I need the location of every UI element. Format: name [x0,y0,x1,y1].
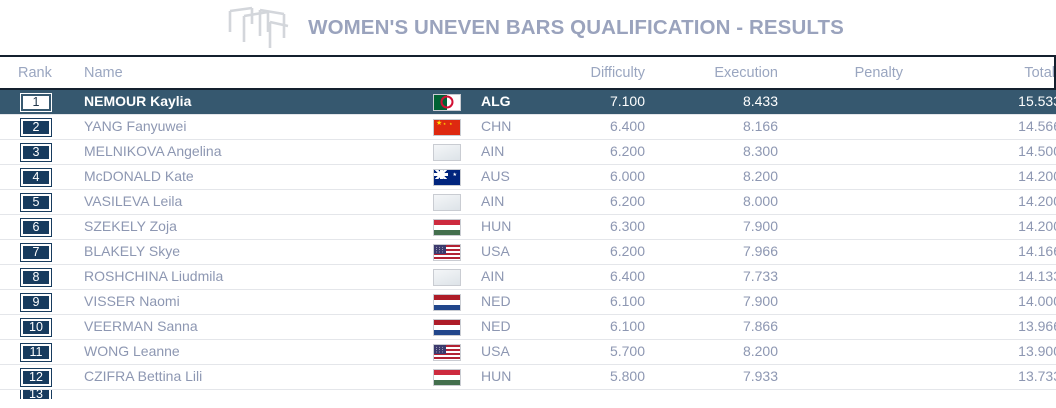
difficulty-cell: 6.200 [537,243,645,261]
difficulty-cell: 6.200 [537,143,645,161]
noc-code: CHN [481,118,511,134]
table-row[interactable]: 5VASILEVA LeilaAIN6.2008.00014.200Q [0,190,1056,215]
table-row[interactable]: 2YANG FanyuweiCHN6.4008.16614.566Q [0,115,1056,140]
execution-cell: 8.200 [645,168,778,186]
execution-score: 7.733 [743,268,778,284]
noc-cell: USA [477,243,537,261]
page-header: WOMEN'S UNEVEN BARS QUALIFICATION - RESU… [0,0,1056,55]
execution-score: 8.166 [743,118,778,134]
total-cell: 14.200 [903,168,1056,186]
noc-code: AIN [481,143,504,159]
flag-icon-chn [433,119,461,136]
noc-cell: CHN [477,118,537,136]
execution-cell: 7.900 [645,293,778,311]
noc-code: NED [481,293,511,309]
difficulty-score: 6.100 [610,318,645,334]
execution-score: 7.900 [743,293,778,309]
column-header-total: Total [903,65,1056,81]
total-score: 14.000 [1018,293,1056,309]
rank-cell: 5 [0,194,72,211]
athlete-name-cell: ROSHCHINA Liudmila [72,268,417,286]
flag-cell [417,169,477,186]
noc-code: AUS [481,168,510,184]
difficulty-score: 6.400 [610,268,645,284]
column-header-execution: Execution [645,65,778,81]
athlete-name: SZEKELY Zoja [84,218,177,234]
rank-cell: 9 [0,294,72,311]
athlete-name-cell: VASILEVA Leila [72,193,417,211]
execution-cell: 8.200 [645,343,778,361]
rank-cell: 11 [0,344,72,361]
total-cell: 13.733 [903,368,1056,386]
table-row[interactable]: 11WONG LeanneUSA5.7008.20013.900R2 [0,340,1056,365]
difficulty-cell: 7.100 [537,93,645,111]
difficulty-score: 6.200 [610,193,645,209]
difficulty-score: 6.000 [610,168,645,184]
execution-score: 8.000 [743,193,778,209]
column-header-rank: Rank [0,65,72,81]
athlete-name-cell: VISSER Naomi [72,293,417,311]
execution-cell: 8.000 [645,193,778,211]
difficulty-cell: 5.800 [537,368,645,386]
rank-cell: 1 [0,94,72,111]
rank-badge: 12 [21,369,51,386]
athlete-name-cell: CZIFRA Bettina Lili [72,368,417,386]
noc-code: NED [481,318,511,334]
athlete-name: MELNIKOVA Angelina [84,143,221,159]
execution-score: 7.866 [743,318,778,334]
flag-cell [417,194,477,211]
total-cell: 13.966 [903,318,1056,336]
column-header-difficulty: Difficulty [537,65,645,81]
athlete-name: VEERMAN Sanna [84,318,198,334]
rank-badge: 1 [21,94,51,111]
difficulty-cell: 5.700 [537,343,645,361]
difficulty-score: 6.200 [610,243,645,259]
table-row[interactable]: 13 [0,390,1056,399]
total-score: 14.500 [1018,143,1056,159]
total-cell: 14.566 [903,118,1056,136]
flag-cell [417,244,477,261]
total-cell: 14.200 [903,193,1056,211]
athlete-name-cell: WONG Leanne [72,343,417,361]
difficulty-score: 6.400 [610,118,645,134]
rank-badge: 10 [21,319,51,336]
flag-cell [417,269,477,286]
total-score: 14.566 [1018,118,1056,134]
flag-icon-hun [433,219,461,236]
total-cell: 14.166 [903,243,1056,261]
table-row[interactable]: 9VISSER NaomiNED6.1007.90014.000Q [0,290,1056,315]
rank-badge: 4 [21,169,51,186]
total-score: 14.133 [1018,268,1056,284]
execution-score: 8.200 [743,343,778,359]
table-row[interactable]: 8ROSHCHINA LiudmilaAIN6.4007.73314.133NR [0,265,1056,290]
total-cell: 15.533 [903,93,1056,111]
rank-cell: 10 [0,319,72,336]
rank-badge: 6 [21,219,51,236]
difficulty-score: 6.300 [610,218,645,234]
athlete-name: VASILEVA Leila [84,193,182,209]
execution-cell: 8.433 [645,93,778,111]
execution-score: 7.966 [743,243,778,259]
execution-score: 7.900 [743,218,778,234]
table-row[interactable]: 1NEMOUR KayliaALG7.1008.43315.533Q [0,90,1056,115]
table-row[interactable]: 6SZEKELY ZojaHUN6.3007.90014.200Q [0,215,1056,240]
rank-badge: 2 [21,119,51,136]
total-score: 14.166 [1018,243,1056,259]
column-header-name: Name [72,65,417,81]
athlete-name: McDONALD Kate [84,168,194,184]
flag-icon-ain [433,144,461,161]
table-row[interactable]: 7BLAKELY SkyeUSA6.2007.96614.166Q [0,240,1056,265]
rank-badge: 5 [21,194,51,211]
difficulty-cell: 6.400 [537,268,645,286]
rank-cell: 13 [0,390,72,399]
difficulty-cell: 6.400 [537,118,645,136]
difficulty-cell: 6.000 [537,168,645,186]
noc-cell: AIN [477,143,537,161]
total-score: 14.200 [1018,193,1056,209]
total-cell: 14.000 [903,293,1056,311]
difficulty-cell: 6.300 [537,218,645,236]
total-score: 14.200 [1018,218,1056,234]
flag-icon-aus [433,169,461,186]
rank-cell: 7 [0,244,72,261]
difficulty-score: 7.100 [610,93,645,109]
flag-cell [417,119,477,136]
rank-cell: 4 [0,169,72,186]
athlete-name-cell: YANG Fanyuwei [72,118,417,136]
flag-cell [417,344,477,361]
athlete-name-cell: McDONALD Kate [72,168,417,186]
total-cell: 13.900 [903,343,1056,361]
noc-code: AIN [481,268,504,284]
noc-cell: NED [477,318,537,336]
results-list: 1NEMOUR KayliaALG7.1008.43315.533Q2YANG … [0,90,1056,399]
difficulty-score: 5.700 [610,343,645,359]
athlete-name-cell: SZEKELY Zoja [72,218,417,236]
noc-cell: HUN [477,368,537,386]
execution-cell: 8.300 [645,143,778,161]
noc-code: USA [481,243,510,259]
table-row[interactable]: 10VEERMAN SannaNED6.1007.86613.966R1 [0,315,1056,340]
flag-icon-ned [433,294,461,311]
athlete-name: BLAKELY Skye [84,243,180,259]
execution-cell: 8.166 [645,118,778,136]
noc-code: USA [481,343,510,359]
noc-cell: HUN [477,218,537,236]
rank-cell: 8 [0,269,72,286]
execution-score: 8.200 [743,168,778,184]
total-score: 13.966 [1018,318,1056,334]
rank-cell: 2 [0,119,72,136]
difficulty-score: 5.800 [610,368,645,384]
athlete-name: CZIFRA Bettina Lili [84,368,202,384]
difficulty-cell: 6.100 [537,318,645,336]
execution-score: 8.300 [743,143,778,159]
rank-cell: 3 [0,144,72,161]
execution-cell: 7.733 [645,268,778,286]
flag-icon-usa [433,244,461,261]
noc-cell: AIN [477,268,537,286]
rank-cell: 12 [0,369,72,386]
difficulty-cell: 6.200 [537,193,645,211]
rank-badge: 3 [21,144,51,161]
athlete-name-cell: BLAKELY Skye [72,243,417,261]
noc-cell: AUS [477,168,537,186]
execution-score: 7.933 [743,368,778,384]
flag-cell [417,144,477,161]
flag-icon-alg [433,94,461,111]
athlete-name: VISSER Naomi [84,293,180,309]
athlete-name: NEMOUR Kaylia [84,93,191,109]
execution-cell: 7.900 [645,218,778,236]
rank-badge: 13 [21,390,51,399]
flag-cell [417,369,477,386]
table-row[interactable]: 4McDONALD KateAUS6.0008.20014.200Q [0,165,1056,190]
execution-cell: 7.966 [645,243,778,261]
noc-cell: ALG [477,93,537,111]
flag-icon-ain [433,194,461,211]
athlete-name-cell: MELNIKOVA Angelina [72,143,417,161]
rank-badge: 9 [21,294,51,311]
total-cell: 14.133 [903,268,1056,286]
noc-code: AIN [481,193,504,209]
athlete-name-cell: VEERMAN Sanna [72,318,417,336]
noc-cell: NED [477,293,537,311]
rank-cell: 6 [0,219,72,236]
noc-code: ALG [481,93,511,109]
difficulty-cell: 6.100 [537,293,645,311]
athlete-name: YANG Fanyuwei [84,118,186,134]
execution-cell: 7.933 [645,368,778,386]
difficulty-score: 6.100 [610,293,645,309]
rank-badge: 8 [21,269,51,286]
athlete-name-cell: NEMOUR Kaylia [72,93,417,111]
noc-code: HUN [481,368,511,384]
noc-cell: USA [477,343,537,361]
results-board: Rank Name Difficulty Execution Penalty T… [0,55,1056,399]
noc-code: HUN [481,218,511,234]
flag-cell [417,294,477,311]
uneven-bars-icon [222,2,294,54]
difficulty-score: 6.200 [610,143,645,159]
athlete-name: WONG Leanne [84,343,180,359]
flag-icon-ain [433,269,461,286]
flag-cell [417,94,477,111]
total-score: 15.533 [1018,93,1056,109]
flag-cell [417,219,477,236]
rank-badge: 7 [21,244,51,261]
page-title: WOMEN'S UNEVEN BARS QUALIFICATION - RESU… [308,16,844,40]
rank-badge: 11 [21,344,51,361]
total-cell: 14.500 [903,143,1056,161]
athlete-name: ROSHCHINA Liudmila [84,268,223,284]
flag-icon-ned [433,319,461,336]
total-cell: 14.200 [903,218,1056,236]
table-row[interactable]: 3MELNIKOVA AngelinaAIN6.2008.30014.500Q [0,140,1056,165]
table-row[interactable]: 12CZIFRA Bettina LiliHUN5.8007.93313.733… [0,365,1056,390]
execution-cell: 7.866 [645,318,778,336]
total-score: 14.200 [1018,168,1056,184]
flag-icon-usa [433,344,461,361]
table-header-row: Rank Name Difficulty Execution Penalty T… [0,57,1056,90]
column-header-penalty: Penalty [778,65,903,81]
total-score: 13.900 [1018,343,1056,359]
noc-cell: AIN [477,193,537,211]
execution-score: 8.433 [743,93,778,109]
total-score: 13.733 [1018,368,1056,384]
flag-cell [417,319,477,336]
flag-icon-hun [433,369,461,386]
